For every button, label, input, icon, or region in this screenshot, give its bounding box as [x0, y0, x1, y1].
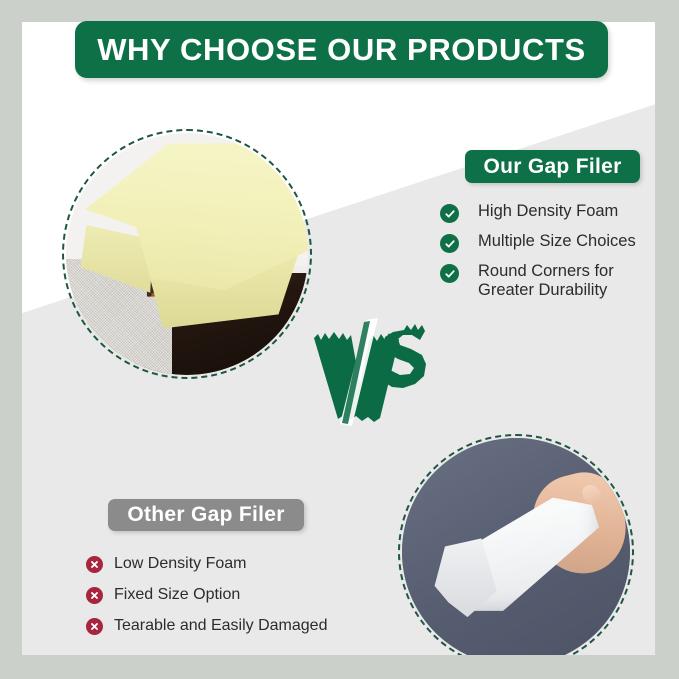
list-item-label: Fixed Size Option — [114, 585, 240, 604]
our-product-photo — [62, 129, 312, 379]
our-gap-filler-badge: Our Gap Filer — [465, 150, 640, 183]
cross-circle-icon — [86, 556, 103, 573]
list-item-label: Round Corners for Greater Durability — [478, 262, 655, 300]
other-gap-filler-badge-label: Other Gap Filer — [127, 503, 284, 527]
cross-circle-icon — [86, 587, 103, 604]
list-item: Low Density Foam — [86, 554, 386, 573]
list-item: Multiple Size Choices — [440, 232, 655, 253]
our-gap-filler-badge-label: Our Gap Filer — [483, 155, 621, 179]
list-item: Fixed Size Option — [86, 585, 386, 604]
list-item-label: High Density Foam — [478, 202, 618, 221]
cross-circle-icon — [86, 618, 103, 635]
check-circle-icon — [440, 204, 459, 223]
list-item: Round Corners for Greater Durability — [440, 262, 655, 300]
bed-scene — [66, 133, 308, 375]
product-comparison-infographic: Our Gap Filer High Density Foam Multiple… — [0, 0, 679, 679]
infographic-card: Our Gap Filer High Density Foam Multiple… — [22, 22, 655, 655]
check-circle-icon — [440, 234, 459, 253]
list-item-label: Tearable and Easily Damaged — [114, 616, 327, 635]
list-item-label: Multiple Size Choices — [478, 232, 636, 251]
other-features-list: Low Density Foam Fixed Size Option Teara… — [86, 554, 386, 647]
other-product-photo-inner — [402, 438, 630, 655]
our-product-photo-inner — [66, 133, 308, 375]
check-circle-icon — [440, 264, 459, 283]
fiber-scene — [402, 438, 630, 655]
list-item: High Density Foam — [440, 202, 655, 223]
our-features-list: High Density Foam Multiple Size Choices … — [440, 202, 655, 309]
other-product-photo — [398, 434, 634, 655]
page-title: WHY CHOOSE OUR PRODUCTS — [97, 32, 586, 68]
other-gap-filler-badge: Other Gap Filer — [108, 499, 304, 531]
list-item-label: Low Density Foam — [114, 554, 247, 573]
header-banner: WHY CHOOSE OUR PRODUCTS — [75, 21, 608, 78]
versus-icon — [308, 318, 428, 426]
list-item: Tearable and Easily Damaged — [86, 616, 386, 635]
